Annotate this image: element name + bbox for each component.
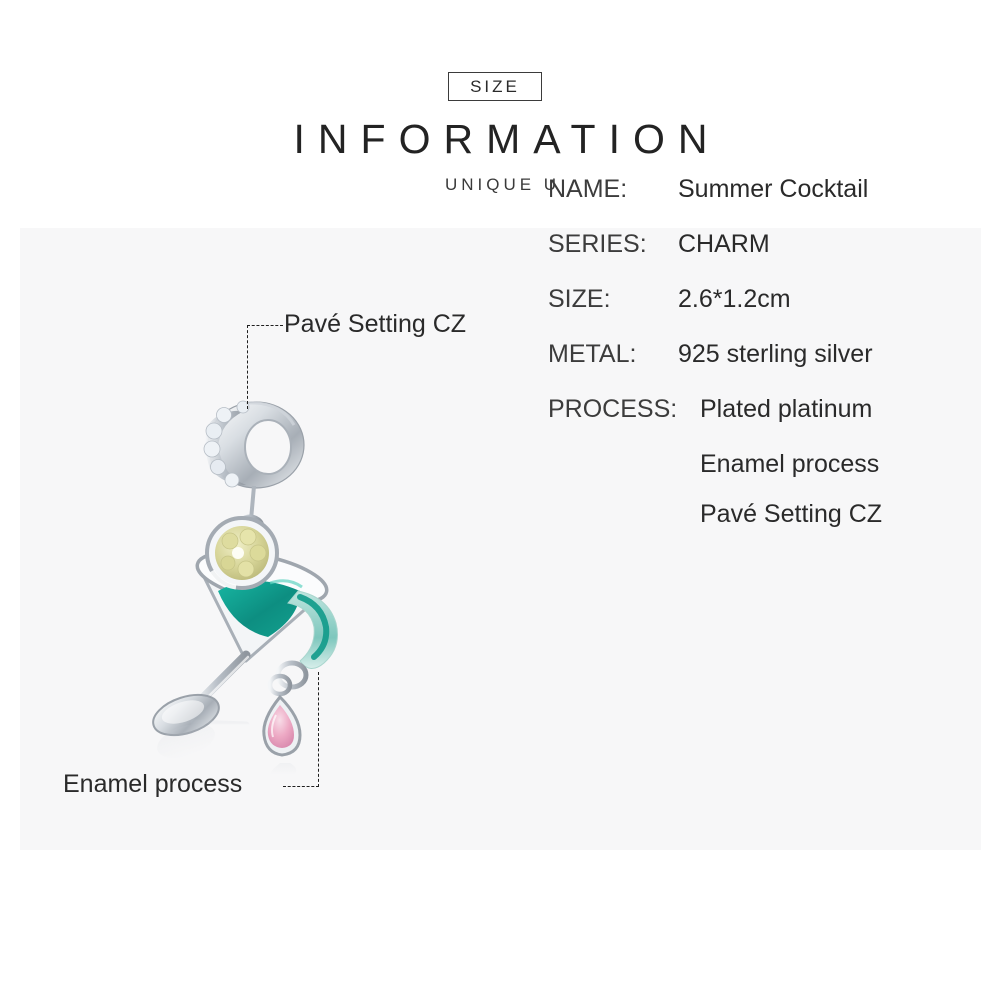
callout-leader-vertical-enamel xyxy=(318,672,319,787)
spec-label-name: NAME: xyxy=(548,175,627,204)
spec-label-process: PROCESS: xyxy=(548,395,677,424)
spec-value-process: Plated platinum xyxy=(700,395,872,424)
spec-row-process-extra-1: Enamel process xyxy=(548,450,948,500)
callout-label-pave-setting: Pavé Setting CZ xyxy=(284,310,466,339)
page-title: INFORMATION xyxy=(0,116,1001,163)
product-spec-list: NAME: Summer Cocktail SERIES: CHARM SIZE… xyxy=(548,175,948,550)
spec-label-size: SIZE: xyxy=(548,285,611,314)
spec-row-process: PROCESS: Plated platinum xyxy=(548,395,948,450)
callout-leader-vertical-pave xyxy=(247,325,248,409)
spec-label-series: SERIES: xyxy=(548,230,647,259)
pink-teardrop-charm xyxy=(264,663,306,755)
spec-row-metal: METAL: 925 sterling silver xyxy=(548,340,948,395)
spec-value-size: 2.6*1.2cm xyxy=(678,285,791,314)
callout-label-enamel: Enamel process xyxy=(63,770,242,799)
spec-value-process-extra-2: Pavé Setting CZ xyxy=(700,500,882,529)
bail-pave-stones xyxy=(204,401,304,488)
callout-leader-horizontal-enamel xyxy=(283,786,319,787)
spec-row-size: SIZE: 2.6*1.2cm xyxy=(548,285,948,340)
spec-value-name: Summer Cocktail xyxy=(678,175,868,204)
size-badge-label: SIZE xyxy=(470,77,520,97)
product-image xyxy=(150,385,380,775)
spec-row-name: NAME: Summer Cocktail xyxy=(548,175,948,230)
spec-value-process-extra-1: Enamel process xyxy=(700,450,879,479)
spec-value-metal: 925 sterling silver xyxy=(678,340,873,369)
spec-row-process-extra-2: Pavé Setting CZ xyxy=(548,500,948,550)
spec-row-series: SERIES: CHARM xyxy=(548,230,948,285)
spec-value-series: CHARM xyxy=(678,230,770,259)
size-badge: SIZE xyxy=(448,72,542,101)
lemon-slice-cz xyxy=(207,518,277,588)
callout-leader-horizontal-pave xyxy=(247,325,283,326)
spec-label-metal: METAL: xyxy=(548,340,636,369)
